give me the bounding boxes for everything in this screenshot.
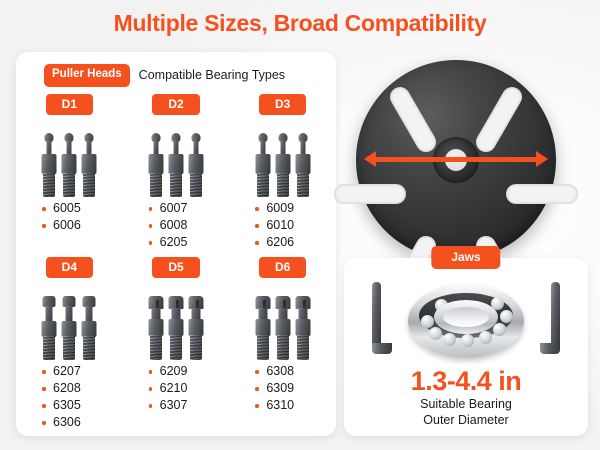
list-item: 6009 (255, 200, 336, 217)
puller-head-groups: D1 6005 6006 D2 (16, 88, 336, 431)
group-d1-head-images (16, 123, 123, 197)
jaws-and-bearing-image (344, 274, 588, 366)
list-item: 6205 (149, 234, 230, 251)
list-item: 6210 (149, 380, 230, 397)
puller-head-icon (147, 133, 164, 197)
list-item: 6008 (149, 217, 230, 234)
puller-head-icon (294, 296, 311, 360)
puller-head-icon (187, 133, 204, 197)
table-header-row: Puller Heads Compatible Bearing Types (16, 64, 336, 87)
measurement-caption-line1: Suitable Bearing (344, 396, 588, 412)
list-item: 6305 (42, 397, 123, 414)
group-d3: D3 6009 6010 6206 (229, 88, 336, 251)
puller-head-icon (81, 133, 98, 197)
compatibility-table-card: Puller Heads Compatible Bearing Types D1… (16, 52, 336, 436)
measurement-value: 1.3-4.4 in (344, 366, 588, 397)
puller-head-icon (274, 133, 291, 197)
group-d4-badge-wrap: D4 (16, 257, 123, 278)
list-item: 6307 (149, 397, 230, 414)
group-d1-badge-wrap: D1 (16, 94, 123, 115)
group-d6-badge-wrap: D6 (229, 257, 336, 278)
list-item: 6005 (42, 200, 123, 217)
group-d6: D6 6308 6309 6310 (229, 251, 336, 431)
group-d2-badge: D2 (152, 94, 199, 115)
puller-head-icon (167, 133, 184, 197)
page-title: Multiple Sizes, Broad Compatibility (0, 10, 600, 37)
puller-head-icon (81, 296, 98, 360)
puller-head-icon (187, 296, 204, 360)
group-d2-head-images (123, 123, 230, 197)
infographic-root: Multiple Sizes, Broad Compatibility Pull… (0, 0, 600, 450)
list-item: 6310 (255, 397, 336, 414)
ball-bearing-icon (408, 284, 524, 358)
group-d4-head-images (16, 286, 123, 360)
disc-slot-icon (472, 83, 525, 155)
disc-body (356, 60, 556, 260)
jaws-card: Jaws (344, 258, 588, 436)
puller-head-icon (61, 296, 78, 360)
group-d6-head-images (229, 286, 336, 360)
puller-head-icon (294, 133, 311, 197)
disc-slot-icon (506, 184, 578, 204)
compatible-bearing-types-label: Compatible Bearing Types (139, 68, 285, 82)
group-d3-bearing-list: 6009 6010 6206 (229, 200, 336, 251)
list-item: 6010 (255, 217, 336, 234)
list-item: 6308 (255, 363, 336, 380)
group-d6-bearing-list: 6308 6309 6310 (229, 363, 336, 414)
group-d2-badge-wrap: D2 (123, 94, 230, 115)
list-item: 6206 (255, 234, 336, 251)
slotted-disc-image (356, 60, 556, 260)
disc-slot-icon (386, 83, 439, 155)
list-item: 6209 (149, 363, 230, 380)
list-item: 6208 (42, 380, 123, 397)
group-d3-badge-wrap: D3 (229, 94, 336, 115)
disc-slot-icon (334, 184, 406, 204)
group-d2: D2 6007 6008 6205 (123, 88, 230, 251)
group-d5-badge-wrap: D5 (123, 257, 230, 278)
list-item: 6207 (42, 363, 123, 380)
jaws-badge: Jaws (431, 246, 500, 269)
group-d5: D5 6209 6210 6307 (123, 251, 230, 431)
group-d2-bearing-list: 6007 6008 6205 (123, 200, 230, 251)
group-d3-head-images (229, 123, 336, 197)
puller-heads-badge: Puller Heads (44, 64, 130, 87)
list-item: 6309 (255, 380, 336, 397)
puller-head-icon (274, 296, 291, 360)
list-item: 6006 (42, 217, 123, 234)
group-d5-head-images (123, 286, 230, 360)
measurement-caption: Suitable Bearing Outer Diameter (344, 396, 588, 428)
group-d5-bearing-list: 6209 6210 6307 (123, 363, 230, 414)
list-item: 6007 (149, 200, 230, 217)
group-d1-badge: D1 (46, 94, 93, 115)
jaw-hook-icon (551, 282, 560, 354)
puller-head-icon (147, 296, 164, 360)
puller-head-icon (41, 133, 58, 197)
group-d5-badge: D5 (152, 257, 199, 278)
group-d4: D4 6207 6208 6305 6306 (16, 251, 123, 431)
puller-head-icon (254, 133, 271, 197)
group-d4-badge: D4 (46, 257, 93, 278)
group-d1: D1 6005 6006 (16, 88, 123, 251)
measurement-caption-line2: Outer Diameter (344, 412, 588, 428)
jaw-hook-icon (372, 282, 381, 354)
puller-head-icon (61, 133, 78, 197)
puller-head-icon (254, 296, 271, 360)
list-item: 6306 (42, 414, 123, 431)
puller-head-icon (41, 296, 58, 360)
group-d1-bearing-list: 6005 6006 (16, 200, 123, 234)
group-d3-badge: D3 (259, 94, 306, 115)
group-d6-badge: D6 (259, 257, 306, 278)
puller-head-icon (167, 296, 184, 360)
group-d4-bearing-list: 6207 6208 6305 6306 (16, 363, 123, 431)
